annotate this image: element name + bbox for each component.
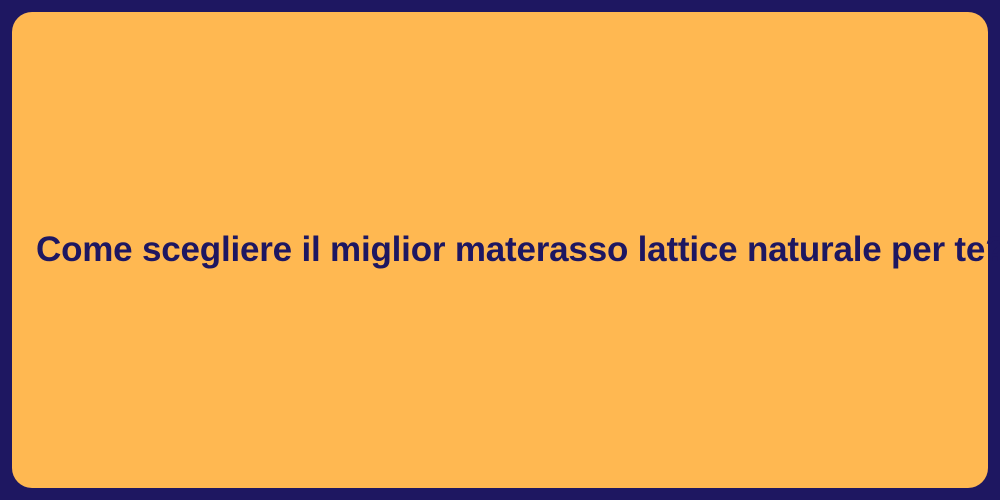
heading-container: Come scegliere il miglior materasso latt… bbox=[12, 228, 988, 272]
banner-card: Come scegliere il miglior materasso latt… bbox=[12, 12, 988, 488]
banner-frame: Come scegliere il miglior materasso latt… bbox=[0, 0, 1000, 500]
page-title: Come scegliere il miglior materasso latt… bbox=[36, 228, 964, 272]
